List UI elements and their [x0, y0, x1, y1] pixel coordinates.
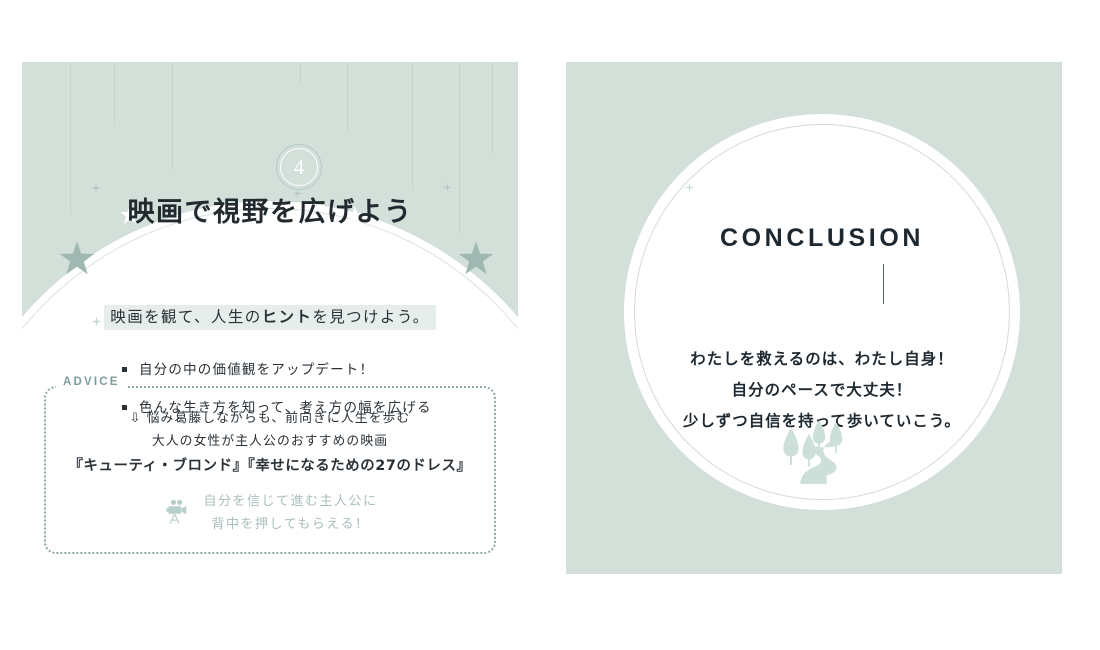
subtitle-strong: ヒント: [262, 308, 313, 326]
star-icon: [58, 240, 96, 278]
hanging-thread: [172, 62, 173, 170]
advice-line-2: 大人の女性が主人公のおすすめの映画: [44, 430, 496, 453]
advice-note: 自分を信じて進む主人公に 背中を押してもらえる！: [44, 490, 496, 536]
conclusion-title: CONCLUSION: [624, 224, 1020, 253]
advice-label: ADVICE: [56, 376, 127, 388]
list-item: 自分の中の価値観をアップデート！: [122, 358, 518, 378]
hanging-thread: [347, 62, 348, 132]
bullet-text: 自分の中の価値観をアップデート！: [139, 358, 374, 378]
bullet-square-icon: [122, 367, 127, 372]
star-icon: [457, 240, 495, 278]
star-icon: [683, 181, 696, 194]
movie-camera-icon: [162, 496, 192, 531]
conclusion-line-2: 自分のペースで大丈夫！: [624, 375, 1020, 406]
slide-number: 4: [276, 144, 322, 190]
right-slide: CONCLUSION わたしを救えるのは、わたし自身！ 自分のペースで大丈夫！ …: [566, 62, 1062, 574]
advice-note-line-2: 背中を押してもらえる！: [211, 517, 369, 532]
left-slide: 4 映画で視野を広げよう 映画を観て、人生のヒントを見つけよう。 自分の中の価値…: [22, 62, 518, 574]
title-divider: [883, 264, 884, 304]
hanging-thread: [492, 62, 493, 154]
subtitle-after: を見つけよう。: [312, 308, 429, 326]
subtitle-before: 映画を観て、人生の: [110, 308, 261, 326]
advice-note-text: 自分を信じて進む主人公に 背中を押してもらえる！: [203, 490, 377, 536]
hanging-thread: [300, 62, 301, 84]
conclusion-line-1: わたしを救えるのは、わたし自身！: [624, 344, 1020, 375]
hanging-thread: [114, 62, 115, 124]
advice-note-line-1: 自分を信じて進む主人公に: [203, 494, 377, 509]
forest-path-icon: [778, 414, 860, 490]
hanging-thread: [412, 62, 413, 190]
slide-number-badge: 4: [276, 144, 324, 192]
advice-line-1: ⇩ 悩み葛藤しながらも、前向きに人生を歩む: [44, 407, 496, 430]
advice-content: ⇩ 悩み葛藤しながらも、前向きに人生を歩む 大人の女性が主人公のおすすめの映画 …: [44, 407, 496, 480]
slide-subtitle: 映画を観て、人生のヒントを見つけよう。: [22, 305, 518, 327]
subtitle-highlight: 映画を観て、人生のヒントを見つけよう。: [104, 305, 435, 330]
advice-line-3: 『キューティ・ブロンド』『幸せになるための27のドレス』: [44, 453, 496, 480]
slide-title: 映画で視野を広げよう: [22, 190, 518, 229]
